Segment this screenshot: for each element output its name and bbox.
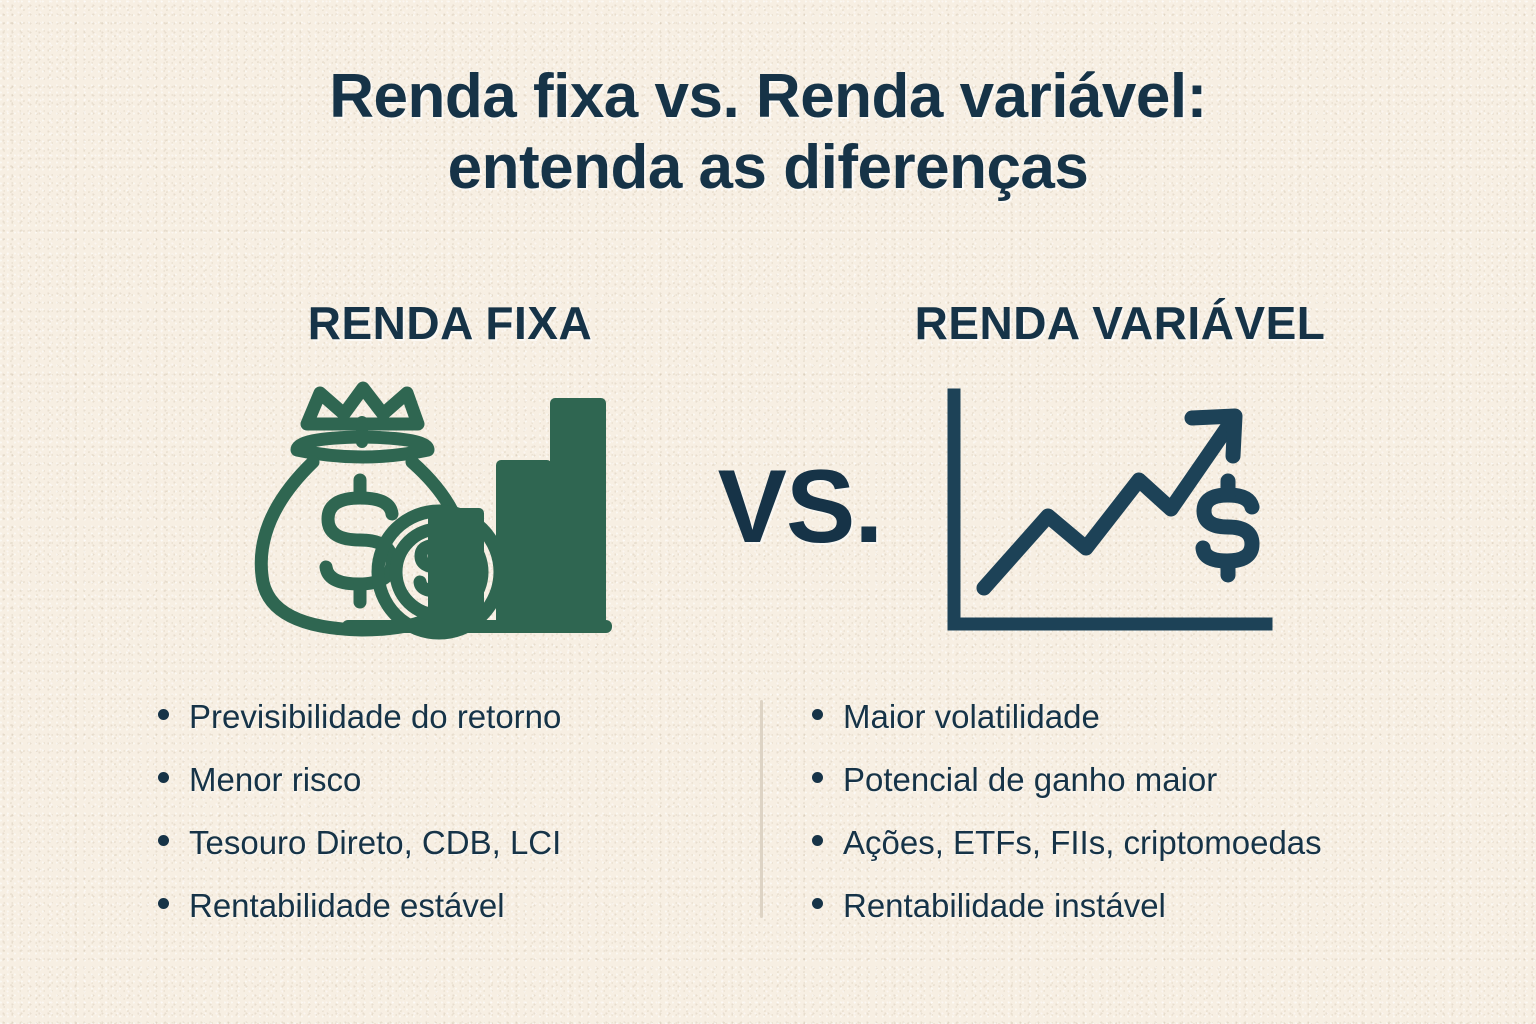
bar-3 xyxy=(550,398,606,628)
list-item: Previsibilidade do retorno xyxy=(158,685,738,748)
dollar-sign-glyph xyxy=(1203,481,1252,575)
bullet-dot-icon xyxy=(158,898,169,909)
bar-2 xyxy=(496,460,552,628)
bullet-list-renda-fixa: Previsibilidade do retorno Menor risco T… xyxy=(158,685,738,937)
money-bag-bar-chart-icon xyxy=(250,380,630,645)
list-item: Ações, ETFs, FIIs, criptomoedas xyxy=(812,811,1492,874)
bullet-dot-icon xyxy=(812,772,823,783)
list-item-label: Ações, ETFs, FIIs, criptomoedas xyxy=(843,811,1322,874)
list-item-label: Previsibilidade do retorno xyxy=(189,685,561,748)
list-item: Rentabilidade estável xyxy=(158,874,738,937)
bullet-dot-icon xyxy=(158,709,169,720)
list-item-label: Maior volatilidade xyxy=(843,685,1100,748)
column-header-renda-variavel: RENDA VARIÁVEL xyxy=(820,296,1420,350)
list-item: Maior volatilidade xyxy=(812,685,1492,748)
column-header-renda-fixa: RENDA FIXA xyxy=(170,296,730,350)
bullet-dot-icon xyxy=(812,898,823,909)
list-item: Menor risco xyxy=(158,748,738,811)
growth-line-chart-dollar-icon xyxy=(930,385,1280,640)
bullet-dot-icon xyxy=(158,835,169,846)
column-divider xyxy=(760,700,763,918)
bullet-dot-icon xyxy=(158,772,169,783)
list-item-label: Potencial de ganho maior xyxy=(843,748,1217,811)
bullet-dot-icon xyxy=(812,709,823,720)
list-item-label: Tesouro Direto, CDB, LCI xyxy=(189,811,561,874)
infographic-canvas: Renda fixa vs. Renda variável: entenda a… xyxy=(0,0,1536,1024)
list-item: Rentabilidade instável xyxy=(812,874,1492,937)
bullet-list-renda-variavel: Maior volatilidade Potencial de ganho ma… xyxy=(812,685,1492,937)
bullet-dot-icon xyxy=(812,835,823,846)
list-item-label: Menor risco xyxy=(189,748,361,811)
list-item: Tesouro Direto, CDB, LCI xyxy=(158,811,738,874)
list-item-label: Rentabilidade instável xyxy=(843,874,1166,937)
list-item-label: Rentabilidade estável xyxy=(189,874,505,937)
bar-1 xyxy=(428,508,484,628)
vs-separator-label: VS. xyxy=(660,455,940,559)
list-item: Potencial de ganho maior xyxy=(812,748,1492,811)
trend-line xyxy=(984,425,1229,588)
bar-chart-baseline xyxy=(342,620,612,633)
page-title: Renda fixa vs. Renda variável: entenda a… xyxy=(0,62,1536,203)
